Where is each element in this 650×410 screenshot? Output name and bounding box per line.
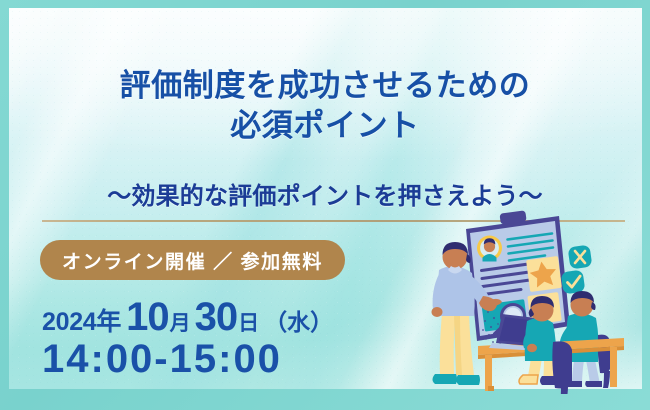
event-weekday: （水）	[264, 303, 333, 337]
check-badge-icon	[561, 270, 586, 295]
banner-subtitle: 〜効果的な評価ポイントを押さえよう〜	[0, 176, 650, 211]
cross-badge-icon	[568, 245, 593, 270]
evaluation-meeting-illustration	[428, 208, 644, 394]
event-day-unit: 日	[238, 307, 259, 337]
status-badge-label: オンライン開催 ／ 参加無料	[62, 247, 323, 274]
event-date: 2024年 10 月 30 日 （水）	[42, 295, 333, 340]
status-badge: オンライン開催 ／ 参加無料	[40, 240, 345, 280]
event-year: 2024年	[42, 302, 121, 338]
star-rating-icon	[526, 256, 562, 292]
event-month-number: 10	[126, 295, 169, 340]
event-month-unit: 月	[170, 307, 191, 337]
event-day-number: 30	[195, 295, 238, 340]
banner-title-line1: 評価制度を成功させるための	[120, 68, 531, 103]
banner-title-line2: 必須ポイント	[0, 106, 650, 146]
event-time-range: 14:00-15:00	[42, 337, 282, 382]
banner-title: 評価制度を成功させるための 必須ポイント	[0, 66, 650, 145]
webinar-banner: 評価制度を成功させるための 必須ポイント 〜効果的な評価ポイントを押さえよう〜 …	[0, 0, 650, 410]
